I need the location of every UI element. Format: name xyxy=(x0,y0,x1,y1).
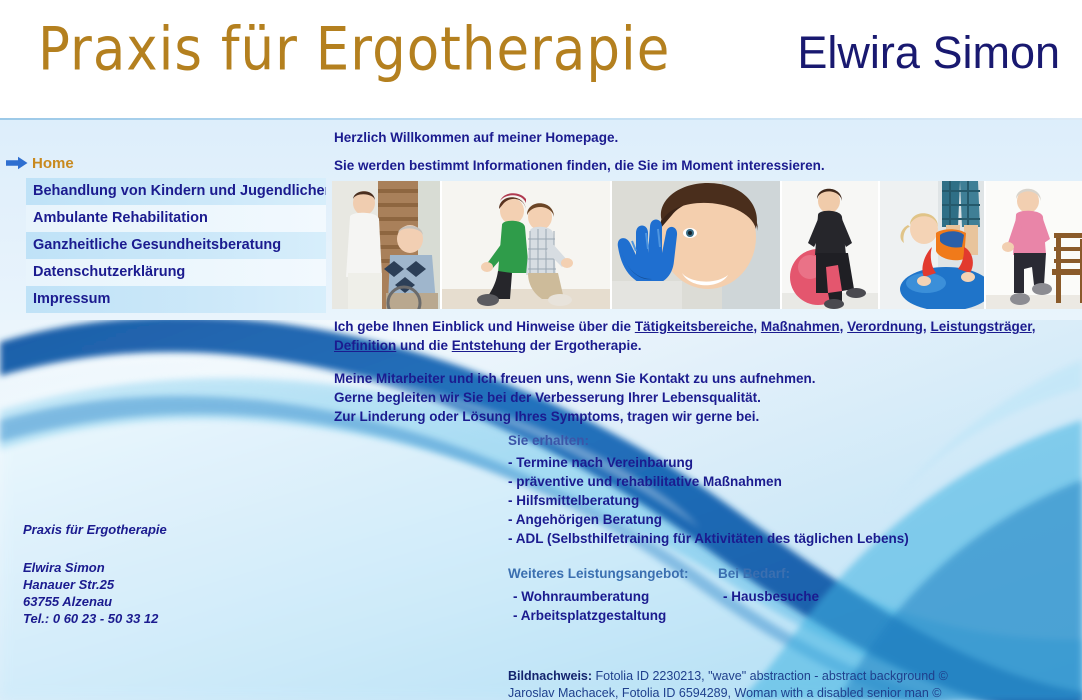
sep: , xyxy=(753,319,761,334)
extra-service-item: - Wohnraumberatung xyxy=(508,587,718,606)
site-header: Praxis für Ergotherapie Elwira Simon xyxy=(0,0,1082,120)
contact-invitation-line: Gerne begleiten wir Sie bei der Verbesse… xyxy=(334,388,1054,407)
image-credits-label: Bildnachweis: xyxy=(508,669,592,683)
on-demand-item: - Hausbesuche xyxy=(718,587,978,606)
practitioner-name: Elwira Simon xyxy=(797,30,1060,75)
contact-invitation-line: Zur Linderung oder Lösung Ihres Symptoms… xyxy=(334,407,1054,426)
photo-woman-with-senior-man xyxy=(332,181,440,309)
sep: , xyxy=(1032,319,1036,334)
links-paragraph-prefix: Ich gebe Ihnen Einblick und Hinweise übe… xyxy=(334,319,635,334)
service-item: - ADL (Selbsthilfetraining für Aktivität… xyxy=(508,529,1028,548)
links-paragraph-suffix: der Ergotherapie. xyxy=(526,338,642,353)
photo-senior-woman-with-chair xyxy=(986,181,1082,309)
main-navigation: Home Behandlung von Kindern und Jugendli… xyxy=(0,150,330,313)
welcome-heading: Herzlich Willkommen auf meiner Homepage. xyxy=(334,130,1034,145)
sidebar-item-label: Ganzheitliche Gesundheitsberatung xyxy=(33,232,326,259)
service-item: - Hilfsmittelberatung xyxy=(508,491,1028,510)
sidebar-item-behandlung-kinder-jugendliche[interactable]: Behandlung von Kindern und Jugendlichen xyxy=(26,178,326,205)
link-verordnung[interactable]: Verordnung xyxy=(847,319,923,334)
arrow-right-icon xyxy=(6,156,28,170)
intro-block: Herzlich Willkommen auf meiner Homepage.… xyxy=(334,130,1034,173)
links-paragraph-mid: und die xyxy=(396,338,452,353)
image-credits-text-1: Fotolia ID 2230213, "wave" abstraction -… xyxy=(592,669,948,683)
service-item: - Termine nach Vereinbarung xyxy=(508,453,1028,472)
extra-services-column-offer: Weiteres Leistungsangebot: - Wohnraumber… xyxy=(508,566,718,625)
sidebar-item-label: Impressum xyxy=(33,286,326,313)
sidebar-item-home[interactable]: Home xyxy=(0,150,330,177)
sidebar-item-label: Datenschutzerklärung xyxy=(33,259,326,286)
sidebar-item-ganzheitliche-gesundheitsberatung[interactable]: Ganzheitliche Gesundheitsberatung xyxy=(26,232,326,259)
extra-services-heading: Weiteres Leistungsangebot: xyxy=(508,566,718,581)
link-massnahmen[interactable]: Maßnahmen xyxy=(761,319,840,334)
service-item: - präventive und rehabilitative Maßnahme… xyxy=(508,472,1028,491)
extra-services-block: Weiteres Leistungsangebot: - Wohnraumber… xyxy=(508,566,1068,625)
link-entstehung[interactable]: Entstehung xyxy=(452,338,526,353)
photo-toddler-on-therapy-ball xyxy=(880,181,984,309)
page-root: Praxis für Ergotherapie Elwira Simon xyxy=(0,0,1082,700)
address-phone: Tel.: 0 60 23 - 50 33 12 xyxy=(23,610,303,627)
contact-invitation-line: Meine Mitarbeiter und ich freuen uns, we… xyxy=(334,369,1054,388)
sidebar-item-home-label: Home xyxy=(32,150,74,177)
services-block: Sie erhalten: - Termine nach Vereinbarun… xyxy=(508,433,1028,548)
image-credits-line-1: Bildnachweis: Fotolia ID 2230213, "wave"… xyxy=(508,668,1082,685)
sidebar-item-impressum[interactable]: Impressum xyxy=(26,286,326,313)
extra-service-item: - Arbeitsplatzgestaltung xyxy=(508,606,718,625)
address-city: 63755 Alzenau xyxy=(23,593,303,610)
services-links-paragraph: Ich gebe Ihnen Einblick und Hinweise übe… xyxy=(334,317,1054,355)
link-leistungstraeger[interactable]: Leistungsträger xyxy=(930,319,1031,334)
on-demand-heading: Bei Bedarf: xyxy=(718,566,978,581)
site-logo-title: Praxis für Ergotherapie xyxy=(38,20,670,79)
sidebar-item-ambulante-rehabilitation[interactable]: Ambulante Rehabilitation xyxy=(26,205,326,232)
services-heading: Sie erhalten: xyxy=(508,433,1028,448)
image-credits-line-2: Jaroslav Machacek, Fotolia ID 6594289, W… xyxy=(508,685,1082,700)
extra-services-column-ondemand: Bei Bedarf: - Hausbesuche xyxy=(718,566,978,625)
address-street: Hanauer Str.25 xyxy=(23,576,303,593)
sep: , xyxy=(923,319,927,334)
image-credits-block: Bildnachweis: Fotolia ID 2230213, "wave"… xyxy=(508,668,1082,700)
photo-strip xyxy=(332,181,1082,309)
sidebar-item-label: Behandlung von Kindern und Jugendlichen xyxy=(33,178,326,205)
service-item: - Angehörigen Beratung xyxy=(508,510,1028,529)
welcome-subheading: Sie werden bestimmt Informationen finden… xyxy=(334,158,1034,173)
link-taetigkeitsbereiche[interactable]: Tätigkeitsbereiche xyxy=(635,319,754,334)
photo-woman-on-exercise-ball xyxy=(782,181,878,309)
link-definition[interactable]: Definition xyxy=(334,338,396,353)
sidebar-item-datenschutzerklaerung[interactable]: Datenschutzerklärung xyxy=(26,259,326,286)
photo-child-painted-hands xyxy=(612,181,780,309)
photo-girl-and-boy xyxy=(442,181,610,309)
address-person-name: Elwira Simon xyxy=(23,559,303,576)
contact-invitation-block: Meine Mitarbeiter und ich freuen uns, we… xyxy=(334,369,1054,426)
sidebar-item-label: Ambulante Rehabilitation xyxy=(33,205,326,232)
address-practice-name: Praxis für Ergotherapie xyxy=(23,522,303,537)
practice-address-block: Praxis für Ergotherapie Elwira Simon Han… xyxy=(23,522,303,627)
